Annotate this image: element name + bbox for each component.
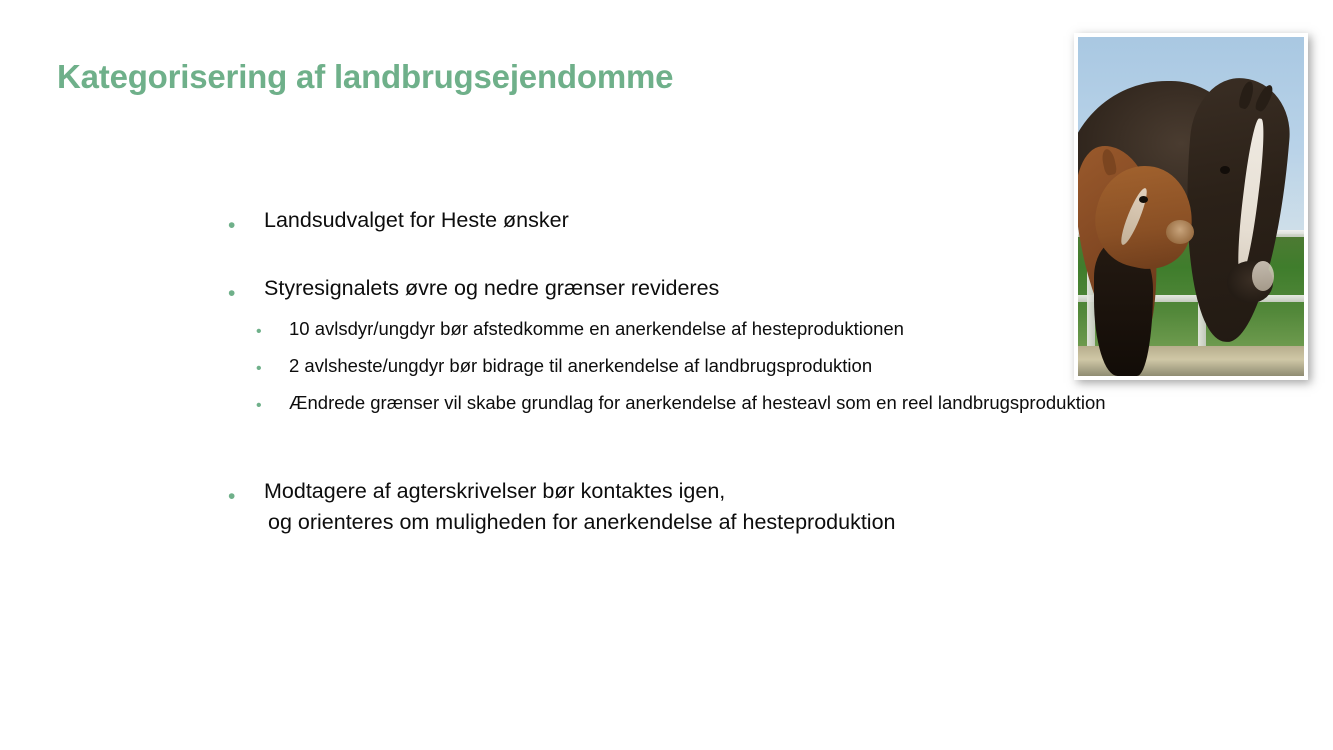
sub-bullet-item: • Ændrede grænser vil skabe grundlag for… bbox=[228, 390, 1298, 415]
bullet-marker-icon: • bbox=[228, 274, 264, 304]
spacer bbox=[228, 415, 1298, 477]
bullet-item: • Modtagere af agterskrivelser bør konta… bbox=[228, 477, 1298, 507]
bullet-marker-icon: • bbox=[228, 206, 264, 236]
sub-bullet-text: 10 avlsdyr/ungdyr bør afstedkomme en ane… bbox=[289, 316, 904, 341]
sub-bullet-text: Ændrede grænser vil skabe grundlag for a… bbox=[289, 390, 1106, 415]
presentation-slide: Kategorisering af landbrugsejendomme • L… bbox=[0, 0, 1333, 750]
bullet-text: Modtagere af agterskrivelser bør kontakt… bbox=[264, 477, 725, 505]
horses-photo-frame bbox=[1074, 33, 1308, 380]
horses-photo bbox=[1078, 37, 1304, 376]
bullet-text: Styresignalets øvre og nedre grænser rev… bbox=[264, 274, 719, 302]
bullet-marker-icon: • bbox=[228, 477, 264, 507]
bullet-text: Landsudvalget for Heste ønsker bbox=[264, 206, 569, 234]
bullet-marker-icon: • bbox=[228, 316, 289, 340]
photo-foal-muzzle bbox=[1166, 220, 1194, 244]
bullet-continuation-text: og orienteres om muligheden for anerkend… bbox=[228, 507, 1298, 537]
sub-bullet-text: 2 avlsheste/ungdyr bør bidrage til anerk… bbox=[289, 353, 872, 378]
bullet-marker-icon: • bbox=[228, 390, 289, 414]
slide-title: Kategorisering af landbrugsejendomme bbox=[57, 58, 673, 96]
bullet-marker-icon: • bbox=[228, 353, 289, 377]
photo-mare-muzzle-highlight bbox=[1252, 261, 1274, 291]
